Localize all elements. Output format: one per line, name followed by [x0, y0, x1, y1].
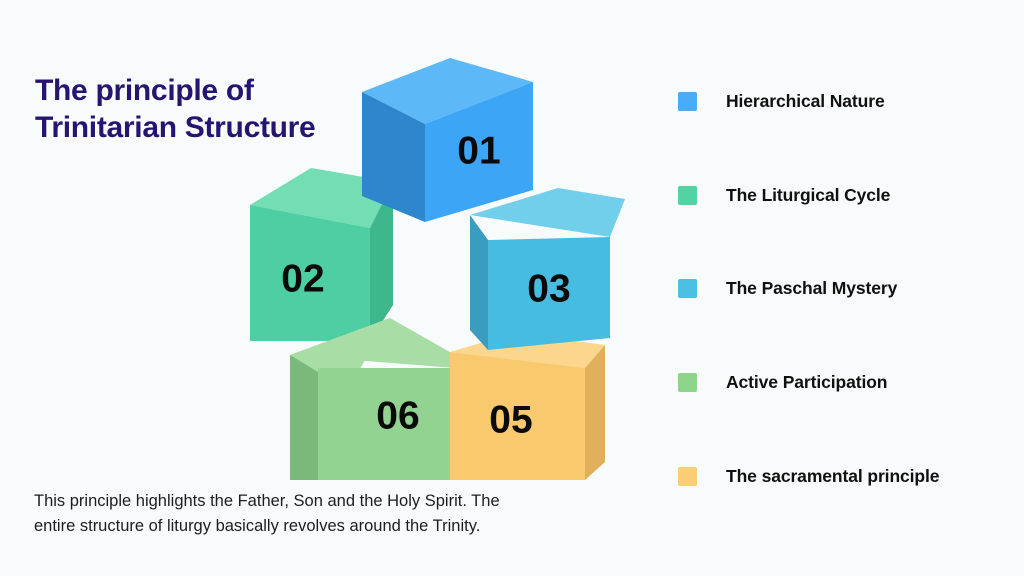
legend-label: Hierarchical Nature [726, 91, 885, 112]
description-text: This principle highlights the Father, So… [34, 489, 514, 538]
legend-label: The Liturgical Cycle [726, 185, 890, 206]
cube-01[interactable]: 01 [362, 58, 533, 222]
cube-05[interactable]: 05 [450, 333, 605, 480]
legend-item-the-paschal-mystery[interactable]: The Paschal Mystery [678, 277, 897, 299]
cube-06-number: 06 [376, 394, 419, 437]
legend-label: Active Participation [726, 372, 887, 393]
legend-item-hierarchical-nature[interactable]: Hierarchical Nature [678, 90, 885, 112]
legend-swatch-icon [678, 467, 697, 486]
legend-item-active-participation[interactable]: Active Participation [678, 371, 887, 393]
cube-06-side-face [290, 355, 318, 480]
slide-canvas: The principle of Trinitarian Structure 0… [0, 0, 1024, 576]
cube-06[interactable]: 06 [290, 318, 455, 480]
cube-03-side-face [470, 215, 488, 350]
legend-swatch-icon [678, 186, 697, 205]
cube-03-number: 03 [527, 267, 570, 310]
legend-swatch-icon [678, 279, 697, 298]
legend-swatch-icon [678, 92, 697, 111]
cube-05-number: 05 [489, 398, 532, 441]
cube-01-number: 01 [457, 129, 500, 172]
legend-label: The Paschal Mystery [726, 278, 897, 299]
legend-item-the-sacramental-principle[interactable]: The sacramental principle [678, 465, 939, 487]
legend-label: The sacramental principle [726, 466, 939, 487]
cube-05-side-face [585, 345, 605, 480]
cube-02-number: 02 [281, 257, 324, 300]
legend-item-the-liturgical-cycle[interactable]: The Liturgical Cycle [678, 184, 890, 206]
legend-swatch-icon [678, 373, 697, 392]
cube-03[interactable]: 03 [470, 188, 625, 350]
